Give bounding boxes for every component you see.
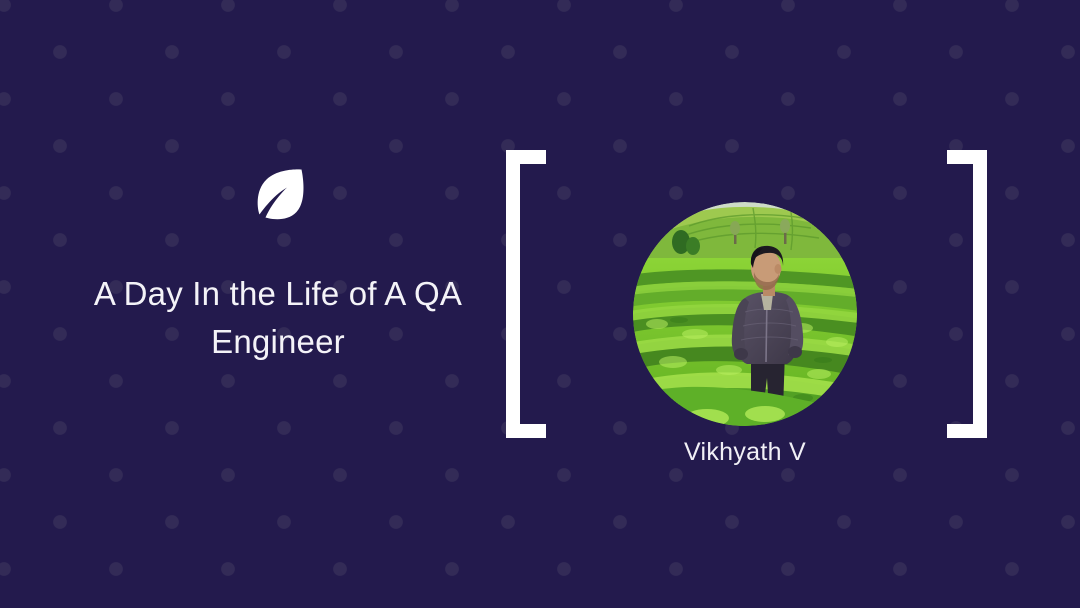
bracket-left-arm-top: [506, 150, 546, 164]
page-title: A Day In the Life of A QA Engineer: [40, 270, 516, 366]
bracket-left-decoration: [506, 150, 546, 438]
bracket-left-arm-bottom: [506, 424, 546, 438]
speaker-name: Vikhyath V: [600, 438, 890, 467]
bracket-left-bar: [506, 150, 520, 438]
bracket-right-arm-top: [947, 150, 987, 164]
bracket-right-arm-bottom: [947, 424, 987, 438]
bracket-right-bar: [973, 150, 987, 438]
bracket-right-decoration: [947, 150, 987, 438]
leaf-icon: [246, 162, 314, 230]
speaker-avatar: [633, 202, 857, 426]
presentation-slide: A Day In the Life of A QA Engineer: [0, 0, 1080, 608]
